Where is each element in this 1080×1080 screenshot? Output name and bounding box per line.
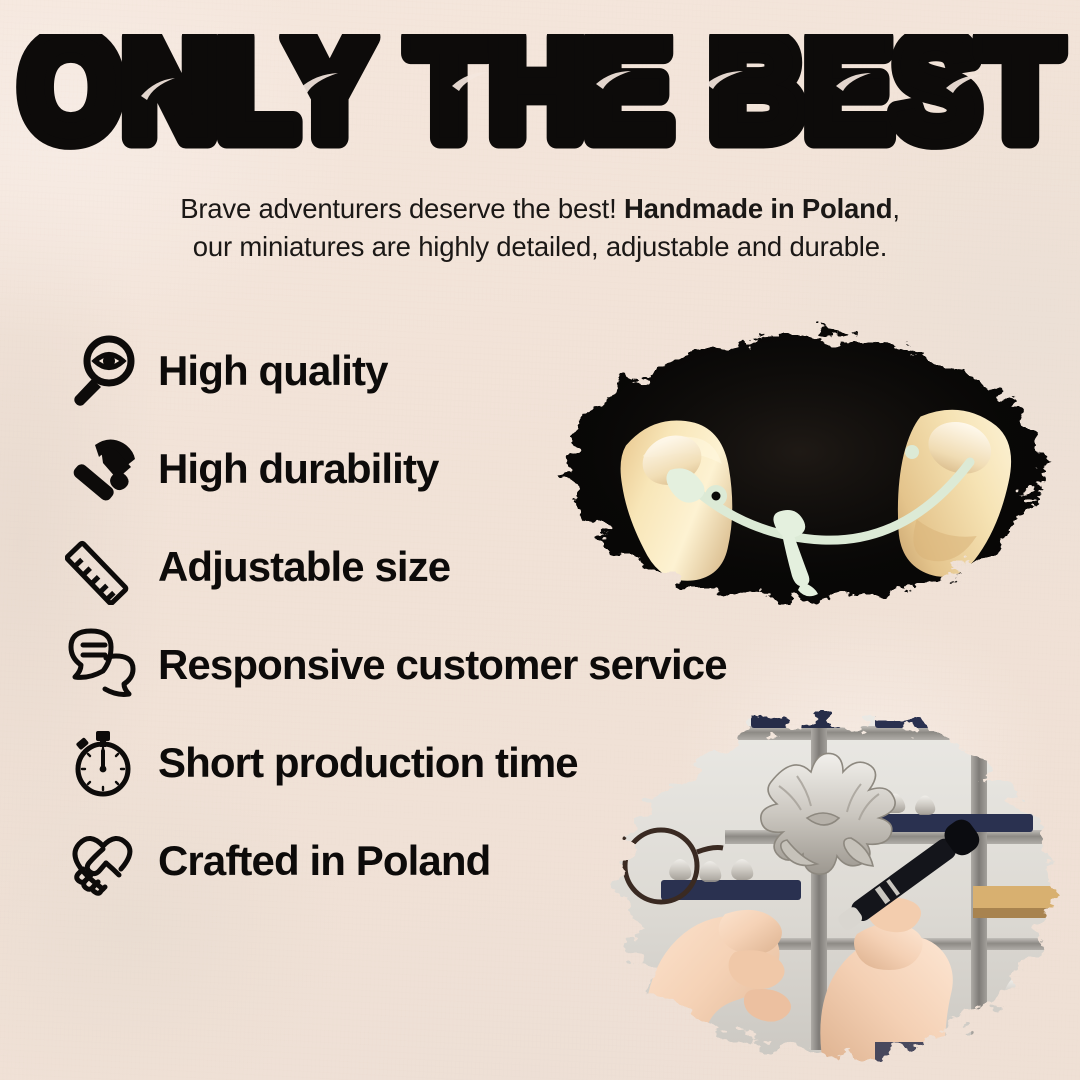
subtitle-line-2: our miniatures are highly detailed, adju… <box>0 228 1080 266</box>
ruler-icon <box>62 526 144 608</box>
stopwatch-icon <box>62 722 144 804</box>
feature-item: Responsive customer service <box>62 616 782 714</box>
page-title: ONLY THE BEST <box>0 34 1080 166</box>
feature-label: High quality <box>158 347 388 395</box>
feature-label: Adjustable size <box>158 543 450 591</box>
feature-item: Crafted in Poland <box>62 812 782 910</box>
subtitle-prefix: Brave adventurers deserve the best! <box>180 193 624 224</box>
subtitle-bold: Handmade in Poland <box>624 193 892 224</box>
subtitle-suffix: , <box>892 193 899 224</box>
feature-label: High durability <box>158 445 439 493</box>
speech-bubbles-icon <box>62 624 144 706</box>
feature-label: Responsive customer service <box>158 641 727 689</box>
feature-list: High quality High durability <box>62 322 782 910</box>
subtitle: Brave adventurers deserve the best! Hand… <box>0 190 1080 266</box>
feature-item: Adjustable size <box>62 518 782 616</box>
feature-item: High durability <box>62 420 782 518</box>
handshake-heart-icon <box>62 820 144 902</box>
magnifier-eye-icon <box>62 330 144 412</box>
svg-text:ONLY THE BEST: ONLY THE BEST <box>20 34 1061 166</box>
feature-item: Short production time <box>62 714 782 812</box>
feature-label: Crafted in Poland <box>158 837 490 885</box>
subtitle-line-1: Brave adventurers deserve the best! Hand… <box>0 190 1080 228</box>
feature-label: Short production time <box>158 739 578 787</box>
hammer-icon <box>62 428 144 510</box>
feature-item: High quality <box>62 322 782 420</box>
